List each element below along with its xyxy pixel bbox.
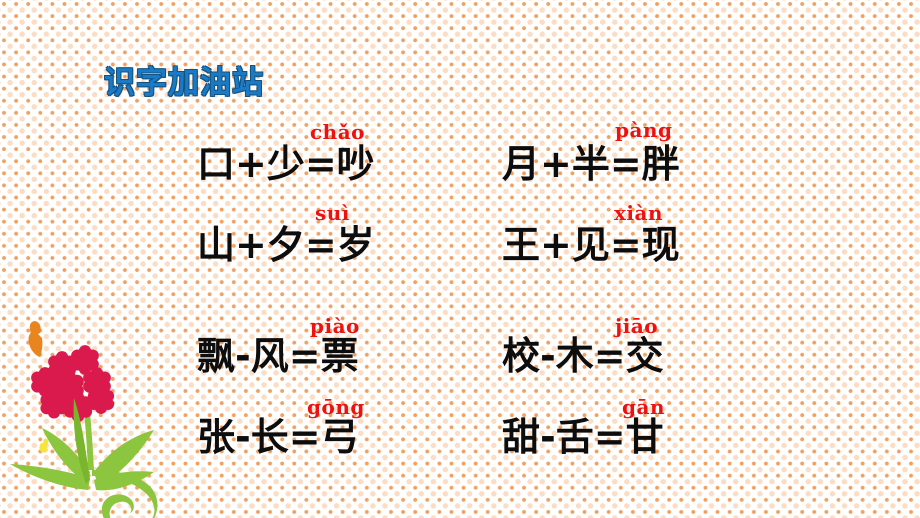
equation-sui: 山+夕=岁 (197, 226, 375, 264)
equation-cell-gan: gān 甜-舌=甘 (502, 393, 807, 474)
equation-cell-gong: gōng 张-长=弓 (197, 393, 502, 474)
equation-gan: 甜-舌=甘 (502, 418, 664, 456)
equation-piao: 飘-风=票 (197, 337, 359, 375)
pinyin-jiao: jiāo (615, 316, 658, 336)
pinyin-xian: xiàn (614, 203, 663, 223)
equation-pang: 月+半=胖 (502, 145, 680, 183)
pinyin-piao: piào (310, 316, 360, 336)
equation-cell-sui: suì 山+夕=岁 (197, 201, 502, 282)
butterfly-icon (29, 321, 43, 357)
pinyin-chao: chǎo (310, 122, 365, 142)
equation-cell-jiao: jiāo 校-木=交 (502, 312, 807, 393)
addition-equations-group: chǎo 口+少=吵 pàng 月+半=胖 suì 山+夕=岁 xiàn 王+见… (197, 120, 807, 282)
slide-canvas: 识字加油站 chǎo 口+少=吵 pàng 月+半=胖 suì 山+夕=岁 xi… (0, 0, 920, 518)
equation-jiao: 校-木=交 (502, 337, 664, 375)
equation-cell-pang: pàng 月+半=胖 (502, 120, 807, 201)
pinyin-sui: suì (315, 203, 350, 223)
pinyin-gong: gōng (307, 397, 365, 417)
equation-cell-piao: piào 飘-风=票 (197, 312, 502, 393)
equation-gong: 张-长=弓 (197, 418, 359, 456)
equation-cell-chao: chǎo 口+少=吵 (197, 120, 502, 201)
blossom-cluster (31, 345, 114, 422)
page-title: 识字加油站 (104, 57, 264, 102)
equation-xian: 王+见=现 (502, 226, 680, 264)
pinyin-gan: gān (622, 397, 665, 417)
pinyin-pang: pàng (615, 120, 672, 140)
equation-cell-xian: xiàn 王+见=现 (502, 201, 807, 282)
subtraction-equations-group: piào 飘-风=票 jiāo 校-木=交 gōng 张-长=弓 gān 甜-舌… (197, 312, 807, 474)
small-butterfly-icon (39, 438, 48, 452)
flower-illustration (2, 300, 167, 518)
equation-chao: 口+少=吵 (197, 145, 375, 183)
